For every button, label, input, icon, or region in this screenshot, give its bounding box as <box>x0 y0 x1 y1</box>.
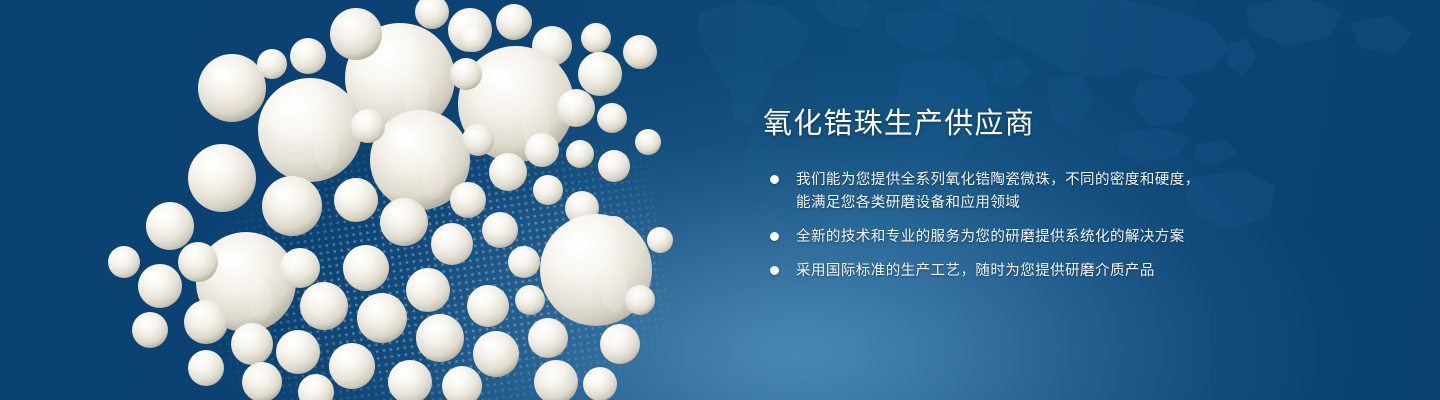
banner-copy: 氧化锆珠生产供应商 我们能为您提供全系列氧化锆陶瓷微珠，不同的密度和硬度， 能满… <box>763 104 1403 283</box>
feature-bullet-item: 采用国际标准的生产工艺，随时为您提供研磨介质产品 <box>763 260 1403 283</box>
bullet-dot-icon <box>770 232 779 241</box>
feature-bullet-item: 我们能为您提供全系列氧化锆陶瓷微珠，不同的密度和硬度， 能满足您各类研磨设备和应… <box>763 169 1403 215</box>
feature-bullet-item: 全新的技术和专业的服务为您的研磨提供系统化的解决方案 <box>763 226 1403 249</box>
feature-bullet-line-1: 全新的技术和专业的服务为您的研磨提供系统化的解决方案 <box>796 229 1185 245</box>
bullet-dot-icon <box>770 175 779 184</box>
feature-bullet-line-1: 我们能为您提供全系列氧化锆陶瓷微珠，不同的密度和硬度， <box>796 172 1200 188</box>
feature-bullet-text: 我们能为您提供全系列氧化锆陶瓷微珠，不同的密度和硬度， 能满足您各类研磨设备和应… <box>796 169 1200 215</box>
feature-bullet-line-1: 采用国际标准的生产工艺，随时为您提供研磨介质产品 <box>796 263 1155 279</box>
bullet-dot-icon <box>770 266 779 275</box>
feature-bullet-list: 我们能为您提供全系列氧化锆陶瓷微珠，不同的密度和硬度， 能满足您各类研磨设备和应… <box>763 169 1403 283</box>
hero-banner: 氧化锆珠生产供应商 我们能为您提供全系列氧化锆陶瓷微珠，不同的密度和硬度， 能满… <box>0 0 1440 400</box>
feature-bullet-text: 采用国际标准的生产工艺，随时为您提供研磨介质产品 <box>796 260 1155 283</box>
banner-headline: 氧化锆珠生产供应商 <box>763 104 1403 144</box>
feature-bullet-line-2: 能满足您各类研磨设备和应用领域 <box>796 192 1200 215</box>
feature-bullet-text: 全新的技术和专业的服务为您的研磨提供系统化的解决方案 <box>796 226 1185 249</box>
